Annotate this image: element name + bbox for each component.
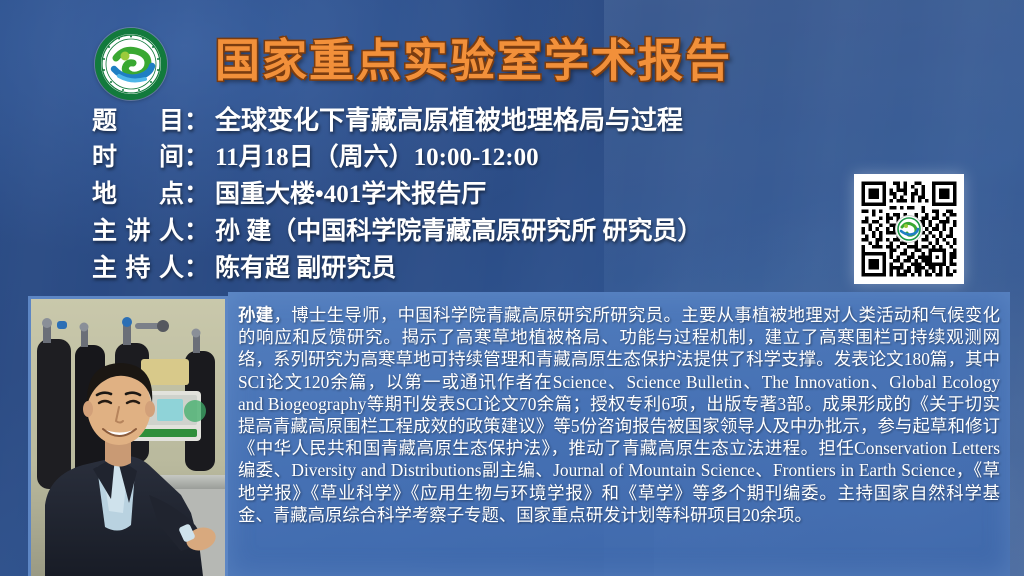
speaker-bio-text: 孙建，博士生导师，中国科学院青藏高原研究所研究员。主要从事植被地理对人类活动和气…: [238, 304, 1000, 526]
poster-header: 国家重点实验室学术报告: [0, 14, 1024, 92]
bio-body: ，博士生导师，中国科学院青藏高原研究所研究员。主要从事植被地理对人类活动和气候变…: [238, 305, 1000, 525]
page-title: 国家重点实验室学术报告: [215, 24, 732, 89]
info-colon-host: ：: [184, 248, 215, 284]
qr-center-logo-icon: [896, 216, 922, 242]
info-value-host: 陈有超 副研究员: [215, 248, 396, 284]
info-row-host: 主持人 ： 陈有超 副研究员: [92, 248, 872, 285]
info-value-location: 国重大楼•401学术报告厅: [215, 174, 486, 210]
speaker-bio-panel: 孙建，博士生导师，中国科学院青藏高原研究所研究员。主要从事植被地理对人类活动和气…: [228, 292, 1010, 576]
info-row-speaker: 主讲人 ： 孙 建（中国科学院青藏高原研究所 研究员）: [92, 211, 872, 248]
info-colon-topic: ：: [184, 101, 215, 137]
seminar-poster: 国家重点实验室学术报告 题目 ： 全球变化下青藏高原植被地理格局与过程 时间 ：…: [0, 0, 1024, 576]
info-colon-speaker: ：: [184, 211, 215, 247]
info-value-speaker: 孙 建（中国科学院青藏高原研究所 研究员）: [215, 211, 703, 247]
info-row-topic: 题目 ： 全球变化下青藏高原植被地理格局与过程: [92, 100, 872, 137]
info-colon-time: ：: [184, 137, 215, 173]
info-label-topic: 题目: [92, 101, 184, 137]
info-row-time: 时间 ： 11月18日（周六）10:00-12:00: [92, 137, 872, 174]
qr-code[interactable]: [854, 174, 964, 284]
bio-speaker-name: 孙建: [238, 305, 273, 325]
info-label-time: 时间: [92, 137, 184, 173]
info-value-topic: 全球变化下青藏高原植被地理格局与过程: [215, 100, 683, 137]
info-colon-location: ：: [184, 174, 215, 210]
info-label-speaker: 主讲人: [92, 211, 184, 247]
institute-seal-logo: [95, 28, 167, 100]
speaker-portrait: [28, 296, 228, 576]
info-row-location: 地点 ： 国重大楼•401学术报告厅: [92, 174, 872, 211]
info-value-time: 11月18日（周六）10:00-12:00: [215, 137, 539, 173]
info-label-host: 主持人: [92, 248, 184, 284]
info-label-location: 地点: [92, 174, 184, 210]
event-info-block: 题目 ： 全球变化下青藏高原植被地理格局与过程 时间 ： 11月18日（周六）1…: [92, 100, 872, 285]
